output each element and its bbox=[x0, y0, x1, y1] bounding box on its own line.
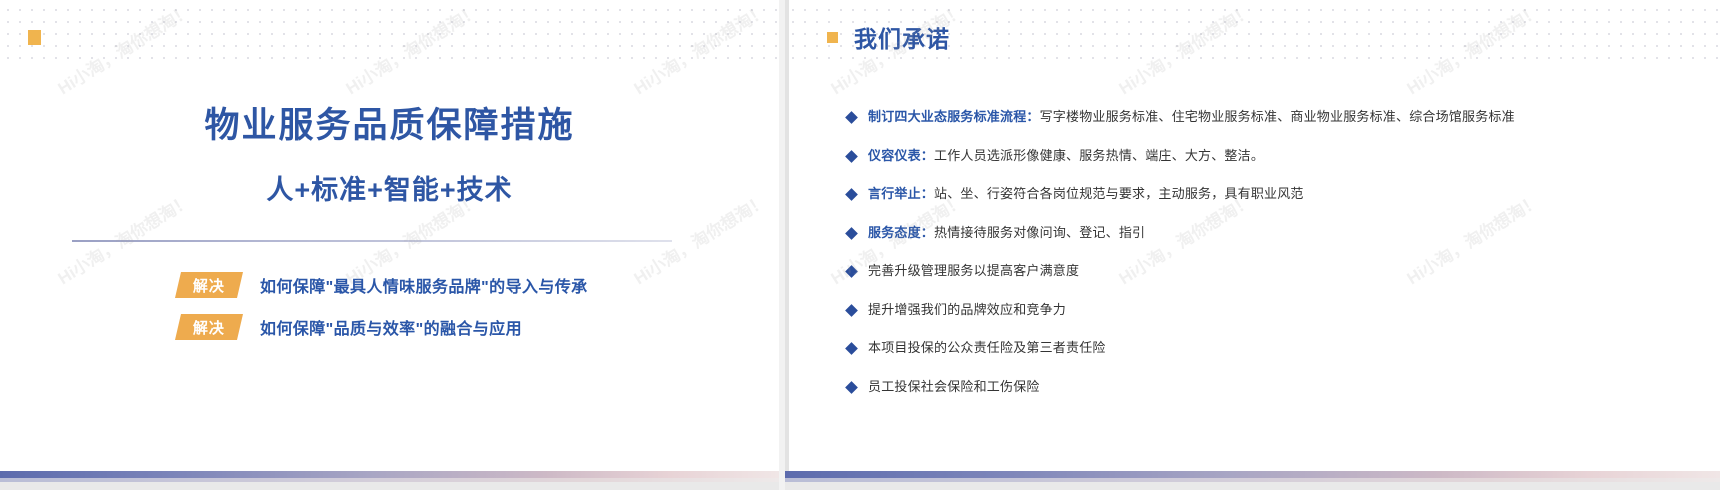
slide-base-strip bbox=[0, 482, 779, 490]
slide-deck: 物业服务品质保障措施 人+标准+智能+技术 解决 如何保障"最具人情味服务品牌"… bbox=[0, 0, 1720, 490]
bottom-gradient-ribbon bbox=[785, 471, 1720, 482]
solution-badge: 解决 bbox=[175, 272, 243, 298]
solution-badge-label: 解决 bbox=[193, 317, 225, 338]
list-item-lead: 仪容仪表： bbox=[868, 148, 934, 163]
title-divider bbox=[72, 240, 672, 242]
section-heading: 我们承诺 bbox=[827, 20, 950, 54]
list-item-body: 本项目投保的公众责任险及第三者责任险 bbox=[868, 340, 1106, 355]
list-item: 完善升级管理服务以提高客户满意度 bbox=[847, 262, 1709, 280]
list-item-body: 员工投保社会保险和工伤保险 bbox=[868, 379, 1040, 394]
solution-text: 如何保障"最具人情味服务品牌"的导入与传承 bbox=[260, 273, 588, 297]
slide-left: 物业服务品质保障措施 人+标准+智能+技术 解决 如何保障"最具人情味服务品牌"… bbox=[0, 0, 779, 490]
diamond-bullet-icon bbox=[845, 304, 858, 317]
solution-badge-label: 解决 bbox=[193, 275, 225, 296]
list-item: 言行举止：站、坐、行姿符合各岗位规范与要求，主动服务，具有职业风范 bbox=[847, 185, 1709, 203]
diamond-bullet-icon bbox=[845, 111, 858, 124]
diamond-bullet-icon bbox=[845, 188, 858, 201]
list-item-lead: 服务态度： bbox=[868, 225, 934, 240]
list-item-body: 写字楼物业服务标准、住宅物业服务标准、商业物业服务标准、综合场馆服务标准 bbox=[1040, 109, 1515, 124]
slide-right: 我们承诺 制订四大业态服务标准流程：写字楼物业服务标准、住宅物业服务标准、商业物… bbox=[785, 0, 1720, 490]
dotted-header-band bbox=[0, 0, 779, 62]
list-item-body: 站、坐、行姿符合各岗位规范与要求，主动服务，具有职业风范 bbox=[934, 186, 1304, 201]
diamond-bullet-icon bbox=[845, 265, 858, 278]
list-item-body: 完善升级管理服务以提高客户满意度 bbox=[868, 263, 1079, 278]
solution-badge: 解决 bbox=[175, 314, 243, 340]
diamond-bullet-icon bbox=[845, 227, 858, 240]
list-item: 仪容仪表：工作人员选派形像健康、服务热情、端庄、大方、整洁。 bbox=[847, 147, 1709, 165]
solution-row: 解决 如何保障"最具人情味服务品牌"的导入与传承 bbox=[178, 272, 588, 298]
diamond-bullet-icon bbox=[845, 381, 858, 394]
slide-left-edge bbox=[785, 0, 789, 490]
bottom-gradient-ribbon bbox=[0, 471, 779, 482]
solution-text: 如何保障"品质与效率"的融合与应用 bbox=[260, 315, 522, 339]
list-item: 制订四大业态服务标准流程：写字楼物业服务标准、住宅物业服务标准、商业物业服务标准… bbox=[847, 108, 1709, 126]
list-item: 员工投保社会保险和工伤保险 bbox=[847, 378, 1709, 396]
page-subtitle: 人+标准+智能+技术 bbox=[0, 168, 779, 207]
list-item-body: 工作人员选派形像健康、服务热情、端庄、大方、整洁。 bbox=[934, 148, 1264, 163]
diamond-bullet-icon bbox=[845, 150, 858, 163]
list-item: 服务态度：热情接待服务对像问询、登记、指引 bbox=[847, 224, 1709, 242]
page-title: 物业服务品质保障措施 bbox=[0, 104, 779, 148]
list-item-lead: 言行举止： bbox=[868, 186, 934, 201]
commitment-list: 制订四大业态服务标准流程：写字楼物业服务标准、住宅物业服务标准、商业物业服务标准… bbox=[847, 108, 1709, 416]
list-item-body: 提升增强我们的品牌效应和竞争力 bbox=[868, 302, 1066, 317]
diamond-bullet-icon bbox=[845, 342, 858, 355]
list-item: 提升增强我们的品牌效应和竞争力 bbox=[847, 301, 1709, 319]
list-item-body: 热情接待服务对像问询、登记、指引 bbox=[934, 225, 1145, 240]
list-item: 本项目投保的公众责任险及第三者责任险 bbox=[847, 339, 1709, 357]
solution-row: 解决 如何保障"品质与效率"的融合与应用 bbox=[178, 314, 522, 340]
section-heading-label: 我们承诺 bbox=[854, 20, 950, 54]
orange-square-marker-icon bbox=[28, 30, 41, 45]
list-item-lead: 制订四大业态服务标准流程： bbox=[868, 109, 1040, 124]
slide-base-strip bbox=[785, 482, 1720, 490]
orange-square-marker-icon bbox=[827, 32, 838, 43]
